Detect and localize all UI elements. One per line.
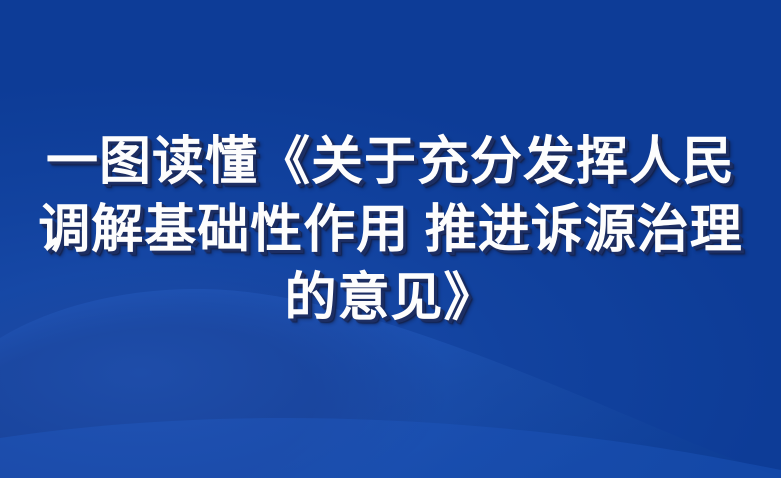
title-line-2: 调解基础性作用 推进诉源治理	[0, 196, 781, 264]
title-line-3: 的意见》	[0, 264, 781, 332]
title-line-1: 一图读懂《关于充分发挥人民	[0, 128, 781, 196]
poster-canvas: 一图读懂《关于充分发挥人民 调解基础性作用 推进诉源治理 的意见》	[0, 0, 781, 478]
poster-title: 一图读懂《关于充分发挥人民 调解基础性作用 推进诉源治理 的意见》	[0, 128, 781, 332]
